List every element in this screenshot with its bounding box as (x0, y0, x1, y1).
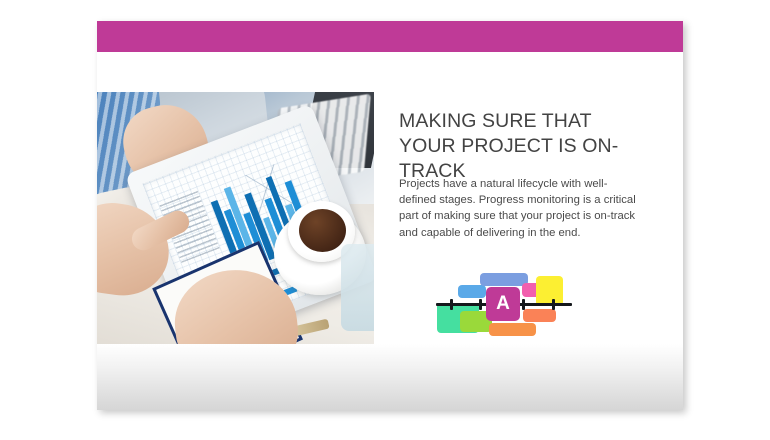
bar-blue-small (458, 285, 486, 298)
photo-illustration (97, 92, 374, 346)
slide-body-text: Projects have a natural lifecycle with w… (399, 176, 644, 241)
timeline-tick (552, 299, 555, 310)
top-accent-band (97, 21, 683, 52)
timeline-tick (450, 299, 453, 310)
photo-water-glass (341, 244, 374, 330)
bar-orange-bottom (489, 323, 536, 336)
bar-yellow (536, 276, 563, 306)
slide-bottom-gradient (97, 344, 683, 410)
bar-blue-wide (480, 273, 528, 286)
timeline-tick (522, 299, 525, 310)
timeline-tick (479, 299, 482, 310)
timeline-letter-badge: A (486, 287, 520, 321)
bar-orange-right (523, 309, 556, 322)
photo-coffee-liquid (299, 209, 346, 252)
slide-photo (97, 92, 374, 346)
slide-title: MAKING SURE THAT YOUR PROJECT IS ON-TRAC… (399, 109, 649, 184)
presentation-slide: MAKING SURE THAT YOUR PROJECT IS ON-TRAC… (97, 21, 683, 410)
timeline-graphic: A (434, 265, 574, 339)
